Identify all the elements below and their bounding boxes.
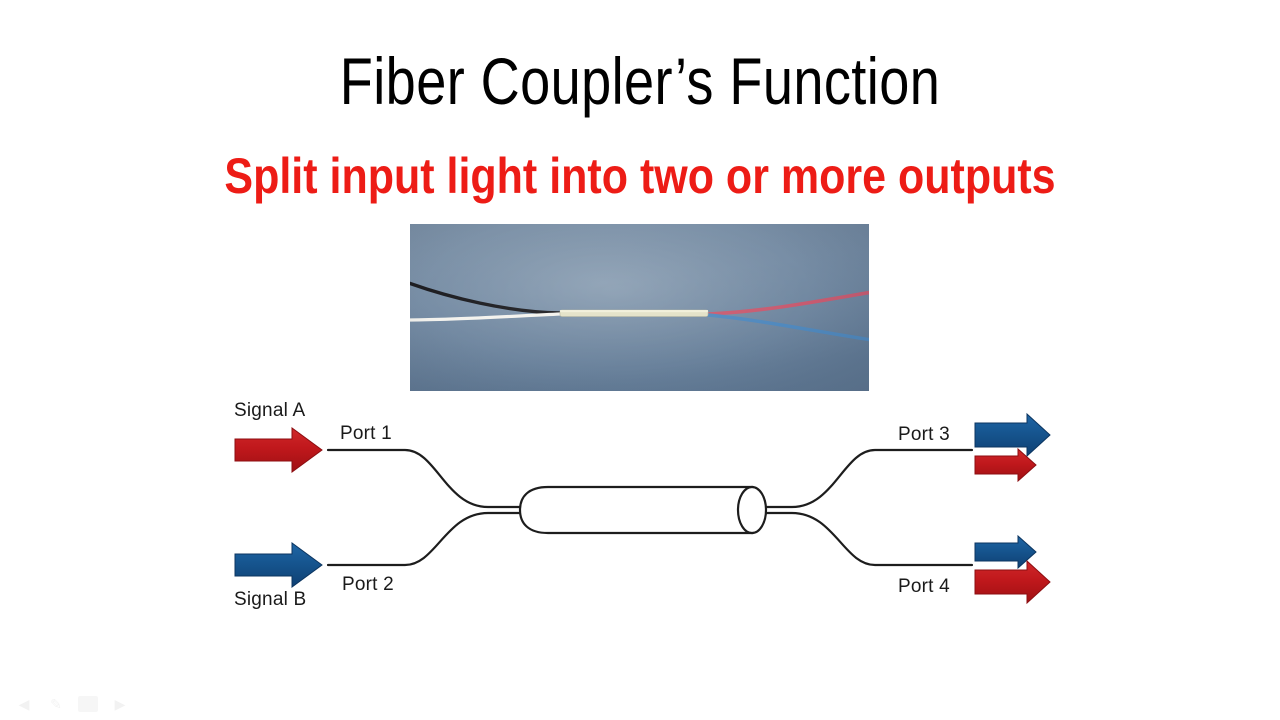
photo-vignette xyxy=(410,224,869,391)
previous-arrow-icon[interactable]: ◀ xyxy=(14,696,34,712)
label-signal-b: Signal B xyxy=(234,589,306,611)
arrow-port-3-blue-large xyxy=(975,414,1050,456)
coupler-body-end-cap xyxy=(738,487,766,533)
fiber-coupler-photograph xyxy=(410,224,869,391)
label-port-4: Port 4 xyxy=(898,576,950,598)
waveguide-port-3 xyxy=(760,450,972,507)
next-arrow-icon[interactable]: ▶ xyxy=(110,696,130,712)
page-subtitle: Split input light into two or more outpu… xyxy=(90,150,1191,203)
pen-icon[interactable]: ✎ xyxy=(46,696,66,712)
label-port-2: Port 2 xyxy=(342,574,394,596)
waveguide-port-1 xyxy=(328,450,520,507)
slideshow-toolbar[interactable]: ◀ ✎ ▶ xyxy=(14,696,130,712)
label-port-3: Port 3 xyxy=(898,424,950,446)
label-port-1: Port 1 xyxy=(340,423,392,445)
waveguide-port-2 xyxy=(328,513,520,565)
slide-canvas: Fiber Coupler’s Function Split input lig… xyxy=(0,0,1280,720)
menu-icon[interactable] xyxy=(78,696,98,712)
arrow-signal-a-red-large xyxy=(235,428,322,472)
waveguide-port-4 xyxy=(760,513,972,565)
label-signal-a: Signal A xyxy=(234,400,305,422)
coupler-body xyxy=(520,487,766,533)
arrow-port-4-red-large xyxy=(975,561,1050,603)
arrow-signal-b-blue-large xyxy=(235,543,322,587)
coupler-body-tube xyxy=(520,487,752,533)
page-title: Fiber Coupler’s Function xyxy=(115,48,1165,115)
